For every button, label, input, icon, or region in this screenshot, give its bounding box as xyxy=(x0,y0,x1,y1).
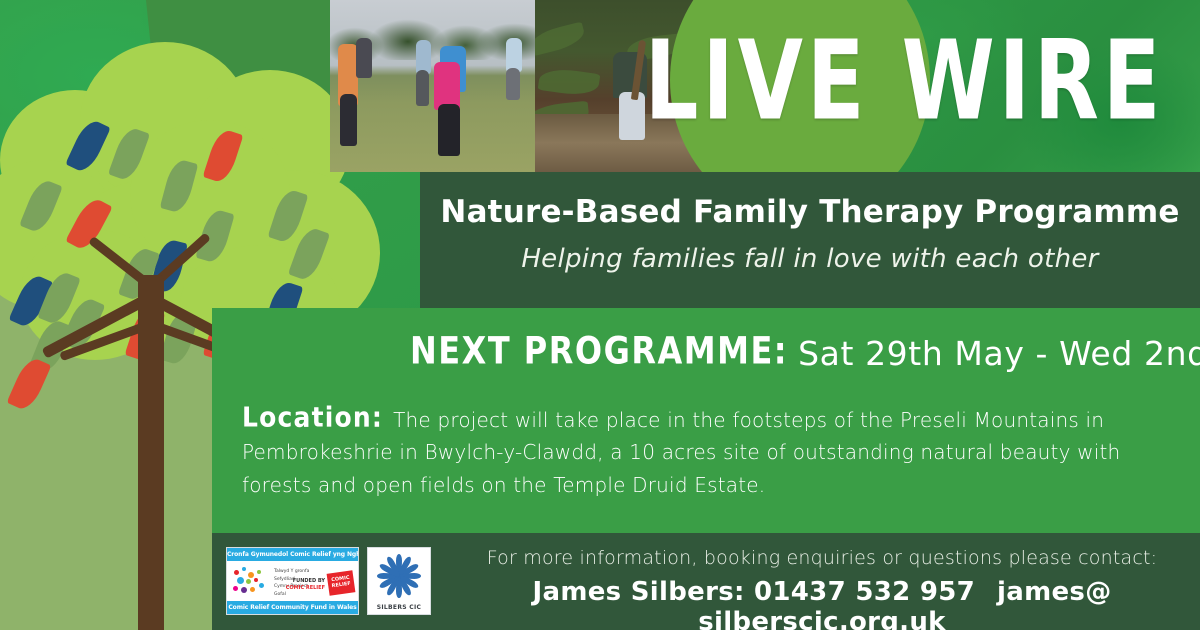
comic-relief-welsh-title: Cronfa Gymunedol Comic Relief yng Nghymr… xyxy=(227,548,358,561)
comic-relief-english-title: Comic Relief Community Fund in Wales xyxy=(227,601,358,614)
comic-relief-logo: Cronfa Gymunedol Comic Relief yng Nghymr… xyxy=(226,547,359,615)
contact-name-phone: James Silbers: 01437 532 957 xyxy=(533,577,976,607)
location-block: Location:The project will take place in … xyxy=(242,404,1192,501)
details-band: NEXT PROGRAMME:Sat 29th May - Wed 2nd Ju… xyxy=(212,308,1200,533)
title-band: Nature-Based Family Therapy Programme He… xyxy=(420,172,1200,308)
silbers-cic-name: SILBERS CIC xyxy=(368,604,430,611)
comic-relief-funded-by: FUNDED BY COMIC RELIEF xyxy=(283,578,325,592)
comic-relief-dots-icon xyxy=(232,566,272,596)
silbers-cic-logo: SILBERS CIC xyxy=(367,547,431,615)
contact-intro: For more information, booking enquiries … xyxy=(462,547,1182,569)
page-title: Nature-Based Family Therapy Programme xyxy=(420,194,1200,230)
next-programme-label: NEXT PROGRAMME: xyxy=(410,328,788,373)
page-tagline: Helping families fall in love with each … xyxy=(420,244,1200,274)
location-label: Location: xyxy=(242,401,383,433)
funder-logos: Cronfa Gymunedol Comic Relief yng Nghymr… xyxy=(226,547,431,615)
photo-family-field xyxy=(330,0,535,172)
next-programme-dates: Sat 29th May - Wed 2nd June 2021 xyxy=(798,334,1200,373)
tree-trunk xyxy=(138,275,164,630)
contact-details: James Silbers: 01437 532 957james@ silbe… xyxy=(462,577,1182,630)
brand-title: LIVE WIRE xyxy=(644,26,1164,136)
tree-leaf xyxy=(7,355,52,413)
poster: LIVE WIRE Nature-Based Family Therapy Pr… xyxy=(0,0,1200,630)
next-programme-row: NEXT PROGRAMME:Sat 29th May - Wed 2nd Ju… xyxy=(410,334,1200,373)
silbers-starburst-icon xyxy=(375,553,423,599)
comic-relief-badge: COMIC RELIEF xyxy=(327,570,356,595)
